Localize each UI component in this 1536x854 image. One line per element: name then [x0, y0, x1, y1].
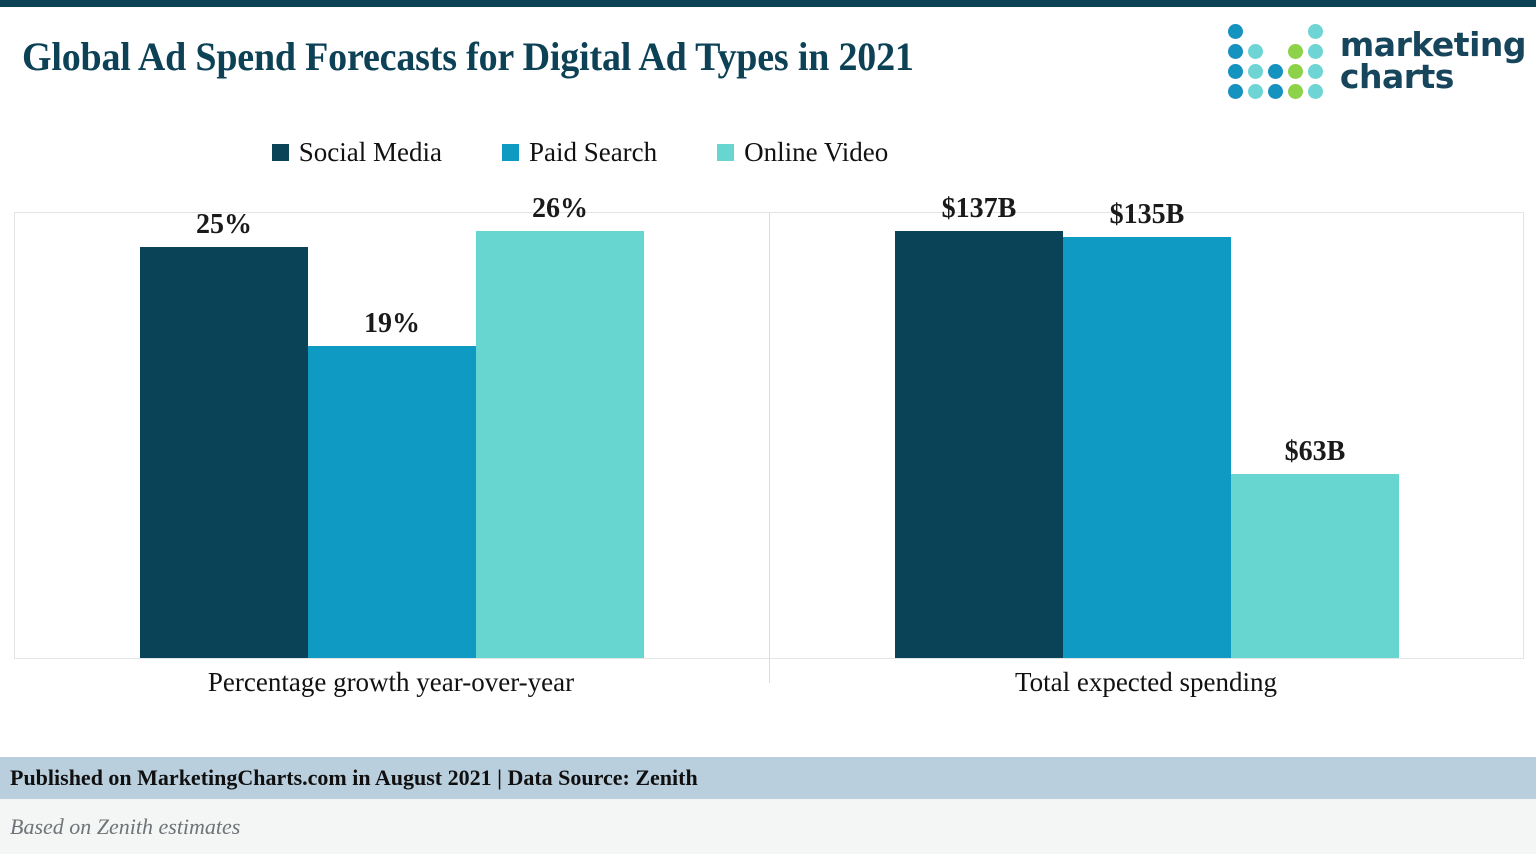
chart-plot-area: 25%19%26% $137B$135B$63B [14, 212, 1524, 659]
bar-online-video[interactable] [1231, 474, 1399, 658]
logo-dot-1-4 [1308, 44, 1323, 59]
logo-dot-0-1 [1248, 24, 1263, 39]
footer-published-band: Published on MarketingCharts.com in Augu… [0, 757, 1536, 799]
logo-dot-1-0 [1228, 44, 1243, 59]
footer-published-text: Published on MarketingCharts.com in Augu… [0, 765, 698, 791]
bar-value-label: $63B [1231, 436, 1399, 468]
logo-dot-3-1 [1248, 84, 1263, 99]
bar-social-media[interactable] [895, 231, 1063, 658]
bar-value-label: 26% [476, 193, 644, 225]
logo-dot-2-0 [1228, 64, 1243, 79]
page-title: Global Ad Spend Forecasts for Digital Ad… [22, 33, 914, 80]
bar-paid-search[interactable] [1063, 237, 1231, 658]
logo-dot-2-1 [1248, 64, 1263, 79]
logo-dot-0-3 [1288, 24, 1303, 39]
logo-dot-2-3 [1288, 64, 1303, 79]
bar-social-media[interactable] [140, 247, 308, 658]
category-label-percentage-growth: Percentage growth year-over-year [14, 667, 768, 698]
logo-dot-0-0 [1228, 24, 1243, 39]
logo-dot-0-2 [1268, 24, 1283, 39]
logo-dot-3-2 [1268, 84, 1283, 99]
logo-dot-3-3 [1288, 84, 1303, 99]
marketingcharts-logo: marketing charts [1226, 21, 1526, 101]
bar-group: $137B$135B$63B [770, 213, 1524, 658]
bar-column: 26% [476, 213, 644, 658]
logo-wordmark: marketing charts [1340, 29, 1526, 92]
logo-dot-grid-icon [1226, 21, 1326, 101]
logo-dot-2-2 [1268, 64, 1283, 79]
bar-value-label: 19% [308, 308, 476, 340]
panel-total-spending: $137B$135B$63B [770, 213, 1524, 658]
header: Global Ad Spend Forecasts for Digital Ad… [0, 7, 1536, 125]
bar-value-label: $135B [1063, 199, 1231, 231]
bar-online-video[interactable] [476, 231, 644, 658]
chart-legend: Social MediaPaid SearchOnline Video [0, 137, 1160, 168]
bar-value-label: 25% [140, 209, 308, 241]
legend-label: Social Media [299, 137, 442, 168]
logo-line-2: charts [1340, 61, 1526, 93]
legend-swatch-icon [272, 144, 289, 161]
logo-dot-3-4 [1308, 84, 1323, 99]
legend-item-social-media[interactable]: Social Media [272, 137, 442, 168]
logo-dot-0-4 [1308, 24, 1323, 39]
legend-item-online-video[interactable]: Online Video [717, 137, 888, 168]
legend-swatch-icon [717, 144, 734, 161]
chart-page: Global Ad Spend Forecasts for Digital Ad… [0, 0, 1536, 854]
bar-paid-search[interactable] [308, 346, 476, 658]
legend-label: Online Video [744, 137, 888, 168]
logo-dot-2-4 [1308, 64, 1323, 79]
legend-swatch-icon [502, 144, 519, 161]
bar-column: $63B [1231, 213, 1399, 658]
legend-label: Paid Search [529, 137, 657, 168]
logo-dot-1-1 [1248, 44, 1263, 59]
footer-note-text: Based on Zenith estimates [0, 814, 240, 840]
logo-dot-3-0 [1228, 84, 1243, 99]
bar-column: 19% [308, 213, 476, 658]
bar-column: $135B [1063, 213, 1231, 658]
legend-item-paid-search[interactable]: Paid Search [502, 137, 657, 168]
category-label-total-spending: Total expected spending [769, 667, 1523, 698]
logo-dot-1-3 [1288, 44, 1303, 59]
bar-value-label: $137B [895, 193, 1063, 225]
bar-group: 25%19%26% [15, 213, 769, 658]
logo-dot-1-2 [1268, 44, 1283, 59]
bar-column: $137B [895, 213, 1063, 658]
footer-note-band: Based on Zenith estimates [0, 799, 1536, 854]
panel-percentage-growth: 25%19%26% [15, 213, 769, 658]
bar-column: 25% [140, 213, 308, 658]
